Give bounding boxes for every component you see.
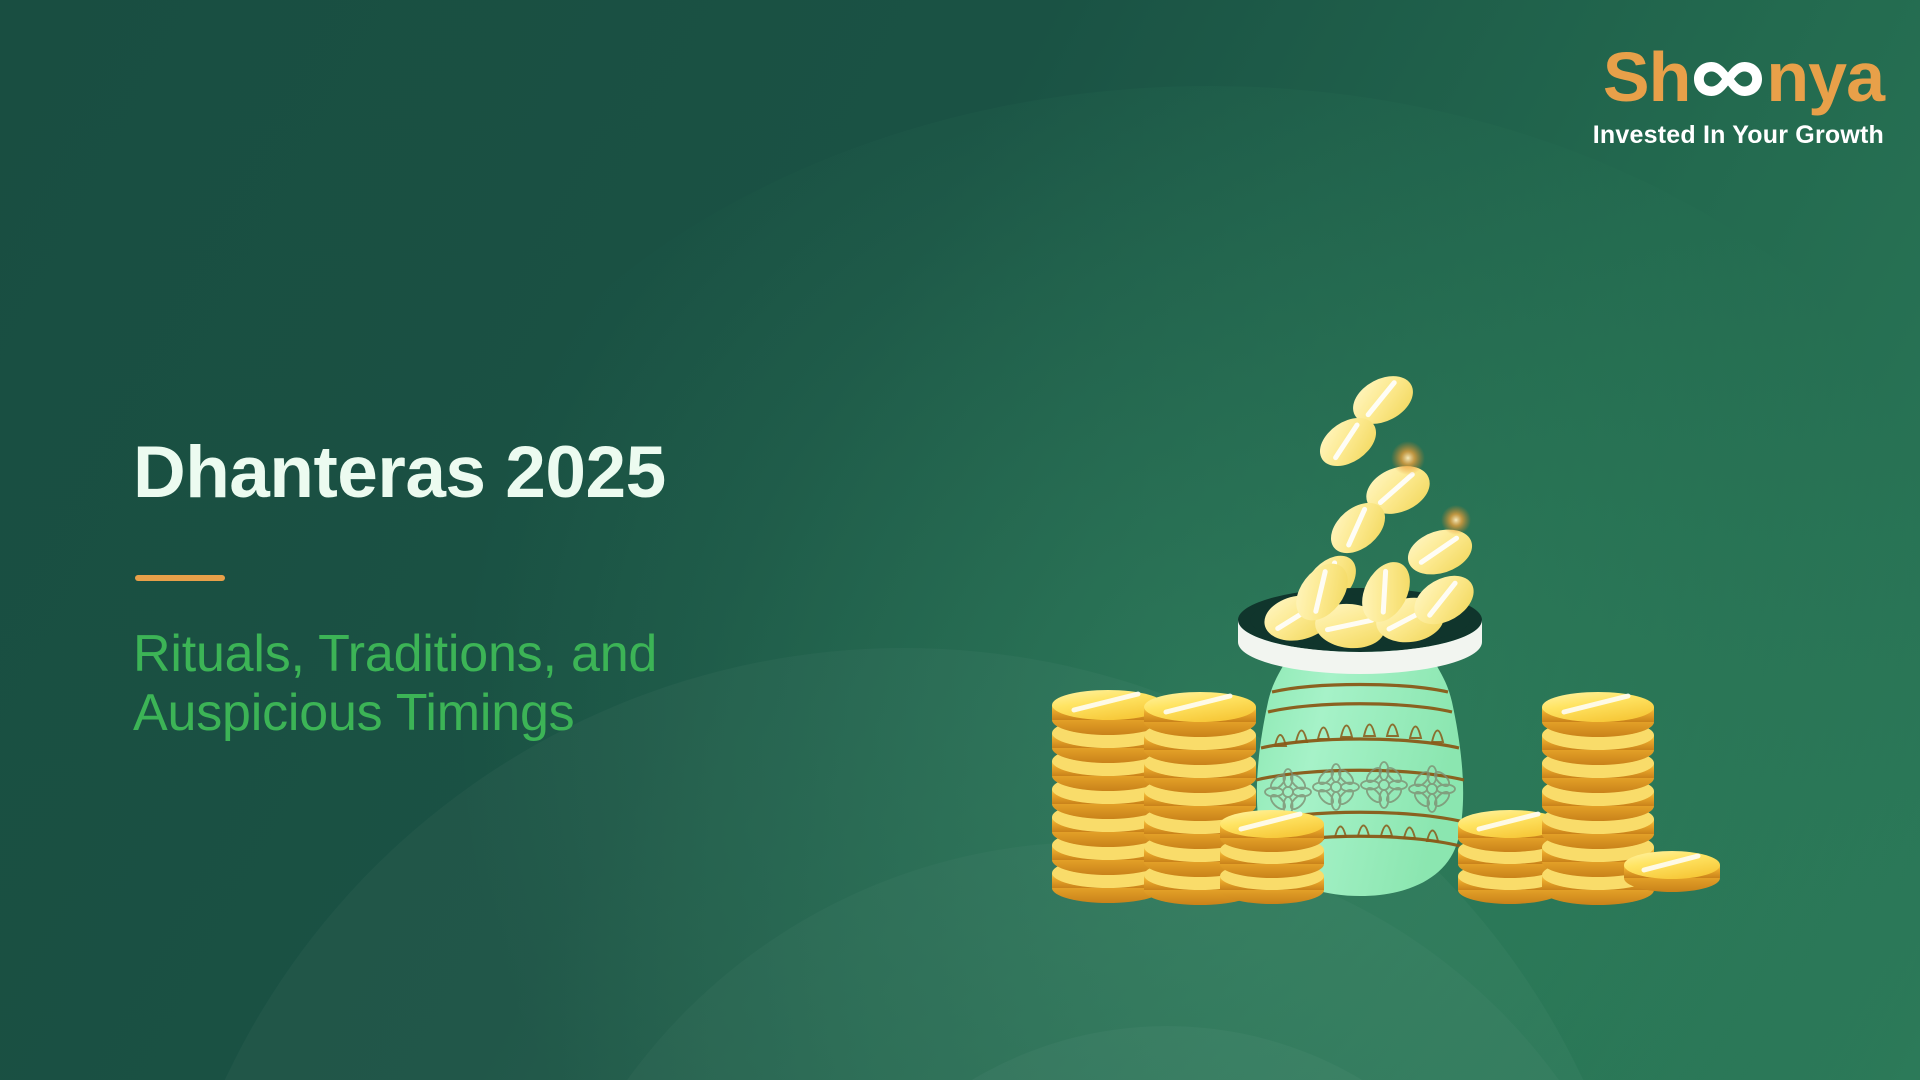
coin-stack: [1220, 810, 1324, 904]
page-subtitle: Rituals, Traditions, and Auspicious Timi…: [133, 625, 893, 743]
logo-wordmark: Sh nya: [1593, 42, 1884, 112]
infinity-icon: [1691, 54, 1765, 104]
dhanteras-promo-banner: Sh nya Invested In Your Growth Dhanteras…: [0, 0, 1920, 1080]
subtitle-line-2: Auspicious Timings: [133, 684, 893, 743]
hero-copy-block: Dhanteras 2025 Rituals, Traditions, and …: [133, 434, 893, 743]
page-title: Dhanteras 2025: [133, 434, 893, 511]
loose-coin: [1624, 851, 1720, 892]
logo-tagline: Invested In Your Growth: [1593, 123, 1884, 148]
kalash-pot-illustration: [1000, 330, 1720, 910]
logo-text-suffix: nya: [1766, 42, 1884, 112]
brand-logo[interactable]: Sh nya Invested In Your Growth: [1593, 42, 1884, 148]
sparkle-icon: [1391, 441, 1425, 475]
title-divider: [135, 575, 225, 581]
subtitle-line-1: Rituals, Traditions, and: [133, 625, 893, 684]
logo-text-prefix: Sh: [1603, 42, 1690, 112]
sparkle-icon: [1441, 505, 1471, 535]
